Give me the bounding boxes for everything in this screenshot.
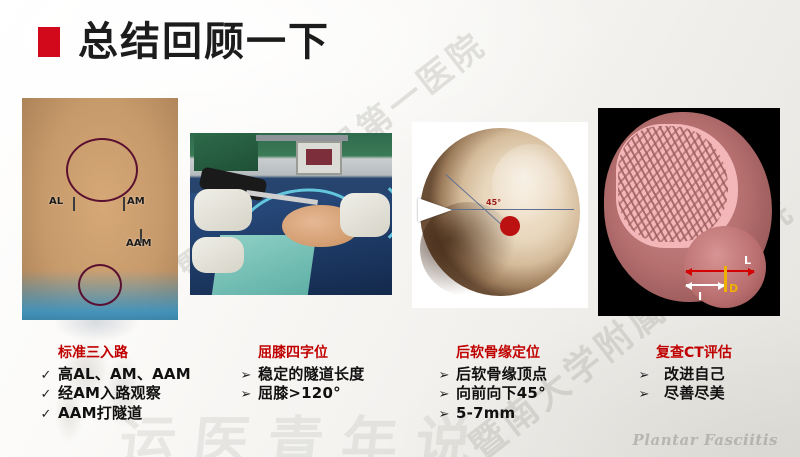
arthroscopic-view-photo: 45°	[412, 122, 588, 308]
gloved-hand-1	[194, 189, 252, 231]
arrow-bullet-icon: ➢	[638, 387, 650, 404]
column-3-heading: 后软骨缘定位	[456, 345, 547, 362]
label-am: AM	[127, 196, 145, 207]
arrow-bullet-icon: ➢	[240, 387, 252, 404]
trabecular-texture-shape	[618, 126, 728, 242]
measure-arrow-i	[686, 284, 724, 286]
measure-arrow-l	[686, 270, 754, 272]
list-item: ➢ 向前向下45°	[438, 384, 547, 404]
list-item-label: 经AM入路观察	[58, 384, 161, 403]
list-item-label: 高AL、AM、AAM	[58, 365, 191, 384]
angle-label: 45°	[486, 198, 501, 207]
arrow-bullet-icon: ➢	[638, 368, 650, 385]
column-4-heading: 复查CT评估	[656, 345, 732, 362]
check-icon: ✓	[40, 407, 52, 424]
check-icon: ✓	[40, 368, 52, 385]
tick-am	[123, 197, 125, 211]
summary-column-3: 后软骨缘定位 ➢ 后软骨缘顶点 ➢ 向前向下45° ➢ 5-7mm	[438, 345, 547, 424]
arrow-bullet-icon: ➢	[438, 407, 450, 424]
label-d: D	[729, 282, 738, 295]
arrow-bullet-icon: ➢	[438, 368, 450, 385]
tick-al	[73, 197, 75, 211]
label-i: I	[698, 290, 702, 303]
summary-column-1: 标准三入路 ✓ 高AL、AM、AAM ✓ 经AM入路观察 ✓ AAM打隧道	[40, 345, 191, 424]
list-item-label: 稳定的隧道长度	[258, 365, 364, 384]
list-item: ✓ 高AL、AM、AAM	[40, 365, 191, 385]
list-item: ✓ AAM打隧道	[40, 404, 191, 424]
list-item-label: 向前向下45°	[456, 384, 546, 403]
ct-3d-reconstruction-photo: L I D	[598, 108, 780, 316]
label-l: L	[744, 254, 751, 267]
measure-marker-d	[724, 266, 727, 292]
list-item-label: 尽善尽美	[664, 384, 725, 403]
gloved-hand-3	[192, 237, 244, 273]
list-item: ➢ 稳定的隧道长度	[240, 365, 364, 385]
list-item-label: 后软骨缘顶点	[456, 365, 547, 384]
column-2-heading: 屈膝四字位	[258, 345, 364, 362]
monitor-shape	[296, 141, 342, 175]
slide-title-row: 总结回顾一下	[38, 22, 330, 62]
arrow-bullet-icon: ➢	[438, 387, 450, 404]
summary-column-2: 屈膝四字位 ➢ 稳定的隧道长度 ➢ 屈膝>120°	[240, 345, 364, 404]
target-dot-marker	[500, 216, 520, 236]
gloved-hand-2	[340, 193, 390, 237]
list-item: ➢ 屈膝>120°	[240, 384, 364, 404]
list-item: ✓ 经AM入路观察	[40, 384, 191, 404]
list-item: ➢ 改进自己	[638, 365, 732, 385]
list-item-label: 屈膝>120°	[258, 384, 341, 403]
list-item: ➢ 后软骨缘顶点	[438, 365, 547, 385]
list-item-label: AAM打隧道	[58, 404, 142, 423]
list-item: ➢ 尽善尽美	[638, 384, 732, 404]
list-item-label: 5-7mm	[456, 404, 515, 423]
arrow-bullet-icon: ➢	[240, 368, 252, 385]
operating-room-arthroscopy-photo	[190, 133, 392, 295]
column-1-heading: 标准三入路	[58, 345, 191, 362]
summary-column-4: 复查CT评估 ➢ 改进自己 ➢ 尽善尽美	[638, 345, 732, 404]
marking-upper-circle	[66, 138, 138, 202]
watermark-footer-italic: Plantar Fasciitis	[633, 431, 778, 449]
knee-portal-marking-photo: AL AM AAM	[22, 98, 178, 320]
title-bullet-square	[38, 27, 60, 57]
list-item-label: 改进自己	[664, 365, 725, 384]
label-aam: AAM	[126, 238, 151, 249]
presentation-slide: 暨南大学附属第一医院 暨南大学附属第一医院 运医青年说 Plantar Fasc…	[0, 0, 800, 457]
check-icon: ✓	[40, 387, 52, 404]
label-al: AL	[49, 196, 63, 207]
page-title: 总结回顾一下	[78, 22, 330, 62]
surgeon-scrubs-shape	[194, 133, 258, 171]
pointer-arrow-icon	[418, 198, 452, 222]
marking-lower-circle	[78, 264, 122, 306]
list-item: ➢ 5-7mm	[438, 404, 547, 424]
